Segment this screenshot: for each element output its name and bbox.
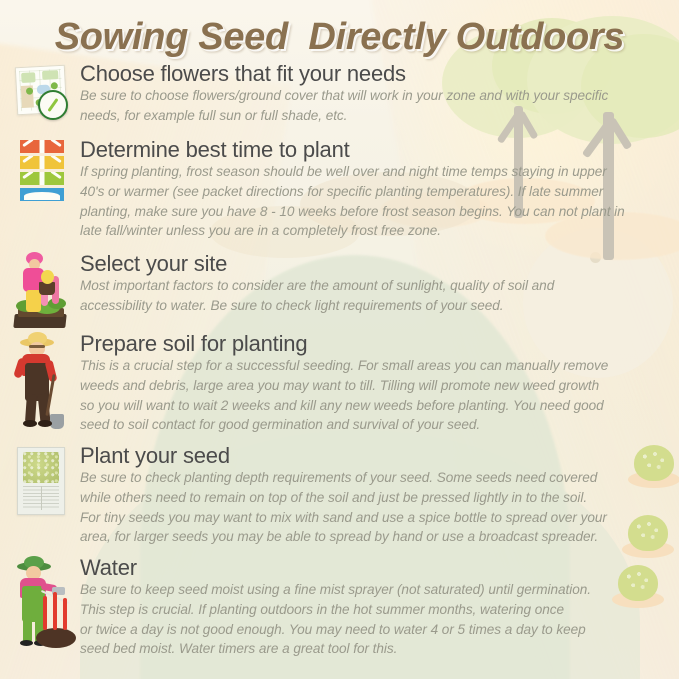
step-heading: Prepare soil for planting — [80, 332, 669, 355]
step-plant-seed: Plant your seed Be sure to check plantin… — [8, 444, 669, 547]
seed-packet-icon — [8, 444, 76, 536]
step-description: Be sure to check planting depth requirem… — [80, 468, 669, 547]
step-heading: Determine best time to plant — [80, 138, 669, 161]
infographic-poster: Sowing Seed Directly Outdoors — [0, 0, 679, 679]
step-description: Be sure to keep seed moist using a fine … — [80, 580, 669, 659]
gardener-with-shovel-icon — [8, 332, 76, 432]
step-description: If spring planting, frost season should … — [80, 162, 669, 241]
gardener-with-flowers-icon — [8, 252, 76, 338]
step-choose-flowers: Choose flowers that fit your needs Be su… — [8, 62, 669, 138]
step-heading: Select your site — [80, 252, 669, 275]
step-prepare-soil: Prepare soil for planting This is a cruc… — [8, 332, 669, 435]
step-description: Be sure to choose flowers/ground cover t… — [80, 86, 669, 125]
step-determine-time: Determine best time to plant If spring p… — [8, 138, 669, 241]
garden-plan-compass-icon — [8, 62, 76, 138]
four-seasons-icon — [8, 138, 76, 214]
poster-content: Sowing Seed Directly Outdoors — [0, 0, 679, 679]
step-water: Water Be sure to keep seed moist using a… — [8, 556, 669, 659]
gardener-watering-icon — [8, 556, 76, 652]
step-description: This is a crucial step for a successful … — [80, 356, 669, 435]
step-heading: Plant your seed — [80, 444, 669, 467]
step-heading: Water — [80, 556, 669, 579]
step-heading: Choose flowers that fit your needs — [80, 62, 669, 85]
step-description: Most important factors to consider are t… — [80, 276, 669, 315]
page-title: Sowing Seed Directly Outdoors — [0, 16, 679, 59]
step-select-site: Select your site Most important factors … — [8, 252, 669, 338]
